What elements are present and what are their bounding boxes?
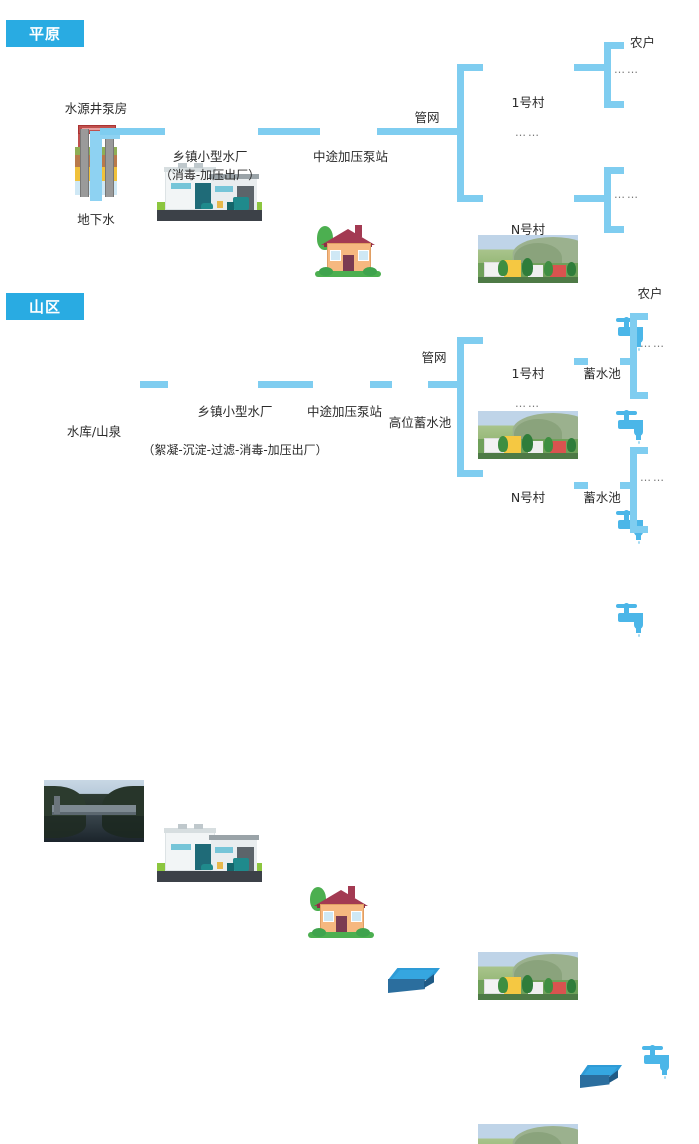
- plain-plant-label: 乡镇小型水厂: [120, 149, 300, 164]
- mountain-village-first-label: 1号村: [478, 366, 578, 381]
- pipe-taps-riser-mtn-N: [630, 447, 637, 533]
- mountain-tap-ellipsis-top: ……: [640, 336, 690, 351]
- plain-source-caption: 地下水: [56, 212, 136, 227]
- water-treatment-plant-icon: [157, 827, 262, 882]
- high-water-tank-icon: [388, 968, 440, 994]
- well-pump-house-icon: [71, 123, 121, 203]
- pipe-villageN-to-tank: [574, 482, 588, 489]
- pipe-booster-to-trunk: [377, 128, 464, 135]
- pipe-well-to-plant: [100, 128, 165, 135]
- plain-village-ellipsis: ……: [478, 125, 578, 140]
- plain-village-first-label: 1号村: [478, 95, 578, 110]
- plain-tap-ellipsis-bottom: ……: [614, 187, 664, 202]
- pipe-taps-riser-mtn-1: [630, 313, 637, 399]
- plain-source-title: 水源井泵房: [56, 101, 136, 116]
- pipe-tap-feed-1a: [604, 42, 624, 49]
- pipe-branch-village1-mtn: [457, 337, 483, 344]
- pipe-tap-feed-mtn-1a: [630, 313, 648, 320]
- pipe-trunk-vertical: [457, 64, 464, 202]
- plain-village-last-label: N号村: [478, 222, 578, 237]
- pipe-trunk-vertical-mtn: [457, 337, 464, 477]
- plain-tap-ellipsis-top: ……: [614, 62, 664, 77]
- mountain-high-tank-label: 高位蓄水池: [380, 415, 460, 430]
- pipe-taps-riser-N: [604, 167, 611, 233]
- pipe-tap-feed-mtn-Nb: [630, 526, 648, 533]
- village-thumbnail-icon: [478, 1124, 578, 1144]
- reservoir-dam-photo-icon: [44, 780, 144, 842]
- pipe-branch-village1: [457, 64, 483, 71]
- village-thumbnail-icon: [478, 411, 578, 459]
- pipe-tap-feed-1b: [604, 101, 624, 108]
- mountain-plant-process: （絮凝-沉淀-过滤-消毒-加压出厂）: [110, 443, 360, 458]
- pipe-branch-villageN-mtn: [457, 470, 483, 477]
- booster-pump-house-icon: [308, 884, 374, 942]
- mountain-network-label: 管网: [412, 350, 456, 365]
- village-water-tank-icon: [580, 1065, 622, 1089]
- pipe-tap-feed-Nb: [604, 226, 624, 233]
- plain-network-label: 管网: [405, 110, 449, 125]
- village-thumbnail-icon: [478, 952, 578, 1000]
- mountain-village-ellipsis: ……: [478, 396, 578, 411]
- pipe-tap-feed-Na: [604, 167, 624, 174]
- pipe-taps-riser-1: [604, 42, 611, 108]
- faucet-icon: [612, 410, 654, 444]
- mountain-plant-label: 乡镇小型水厂: [175, 404, 295, 419]
- plain-household-label: 农户: [630, 35, 680, 50]
- faucet-icon: [638, 1045, 680, 1079]
- faucet-icon: [612, 603, 654, 637]
- pipe-village1-to-tank: [574, 358, 588, 365]
- pipe-branch-villageN: [457, 195, 483, 202]
- mountain-tank-last-label: 蓄水池: [572, 490, 632, 505]
- mountain-household-label: 农户: [620, 286, 680, 301]
- mountain-tank-first-label: 蓄水池: [572, 366, 632, 381]
- pipe-villageN-to-taps: [574, 195, 608, 202]
- mountain-source-caption: 水库/山泉: [44, 424, 144, 439]
- pipe-plant-to-booster-mtn: [258, 381, 313, 388]
- pipe-tap-feed-mtn-1b: [630, 392, 648, 399]
- pipe-dam-to-plant: [140, 381, 168, 388]
- village-thumbnail-icon: [478, 235, 578, 283]
- diagram-canvas: 平原 水源井泵房 地下水 乡镇: [0, 0, 699, 572]
- plain-plant-process: （消毒-加压出厂）: [120, 168, 300, 183]
- pipe-village1-to-taps: [574, 64, 608, 71]
- mountain-village-last-label: N号村: [478, 490, 578, 505]
- mountain-tap-ellipsis-bottom: ……: [640, 470, 690, 485]
- section-badge-plain: 平原: [6, 20, 84, 47]
- booster-pump-house-icon: [315, 223, 381, 281]
- pipe-booster-to-hightank: [370, 381, 392, 388]
- pipe-plant-to-booster: [258, 128, 320, 135]
- pipe-tap-feed-mtn-Na: [630, 447, 648, 454]
- section-badge-mountain: 山区: [6, 293, 84, 320]
- plain-booster-label: 中途加压泵站: [298, 149, 403, 164]
